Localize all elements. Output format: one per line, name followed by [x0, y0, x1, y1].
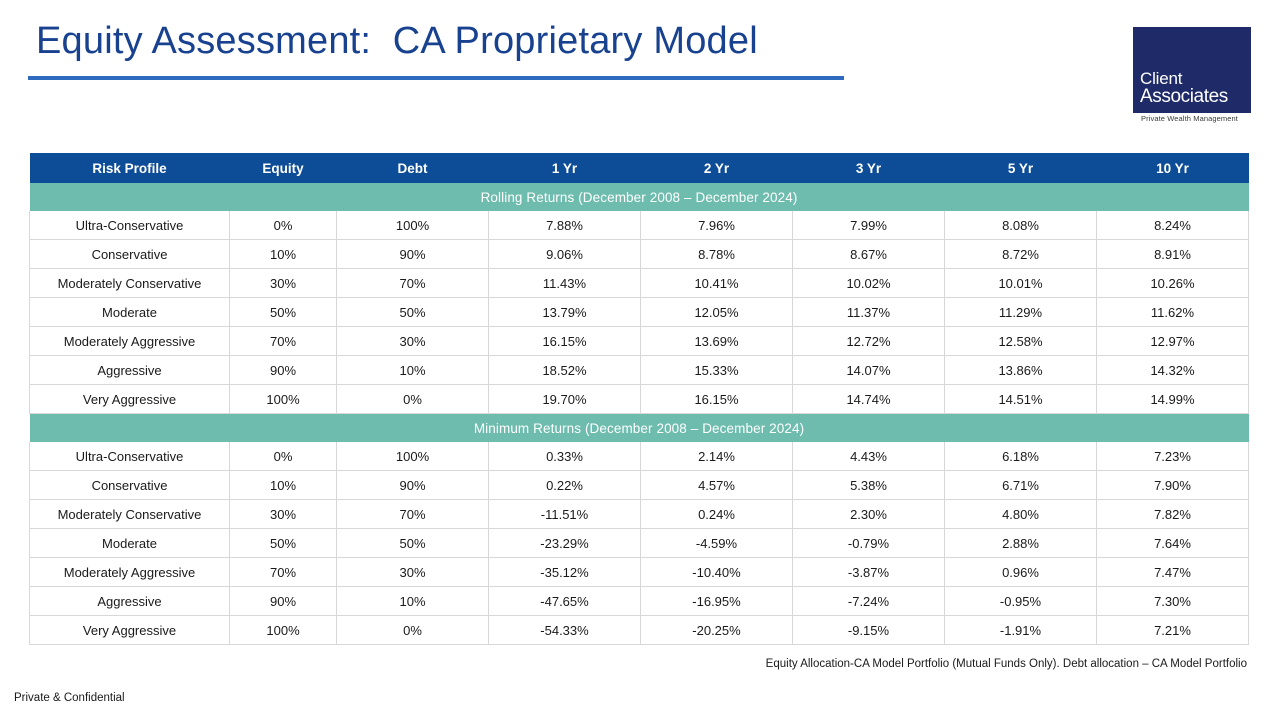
value-cell: 2.14% [641, 442, 793, 471]
value-cell: -1.91% [945, 616, 1097, 645]
value-cell: 14.51% [945, 385, 1097, 414]
logo-line-associates: Associates [1140, 86, 1228, 107]
table-row: Moderate50%50%-23.29%-4.59%-0.79%2.88%7.… [30, 529, 1249, 558]
value-cell: 12.05% [641, 298, 793, 327]
footnote-text: Equity Allocation-CA Model Portfolio (Mu… [766, 658, 1247, 670]
value-cell: 10.26% [1097, 269, 1249, 298]
value-cell: 8.24% [1097, 211, 1249, 240]
risk-profile-cell: Ultra-Conservative [30, 211, 230, 240]
value-cell: 10% [230, 471, 337, 500]
table-row: Moderately Aggressive70%30%-35.12%-10.40… [30, 558, 1249, 587]
value-cell: 12.58% [945, 327, 1097, 356]
value-cell: -0.79% [793, 529, 945, 558]
value-cell: -35.12% [489, 558, 641, 587]
value-cell: 7.99% [793, 211, 945, 240]
value-cell: 16.15% [489, 327, 641, 356]
risk-profile-cell: Very Aggressive [30, 616, 230, 645]
table-row: Moderately Aggressive70%30%16.15%13.69%1… [30, 327, 1249, 356]
value-cell: -9.15% [793, 616, 945, 645]
value-cell: 2.88% [945, 529, 1097, 558]
section-header-row: Minimum Returns (December 2008 – Decembe… [30, 414, 1249, 443]
value-cell: 0% [230, 211, 337, 240]
value-cell: 11.29% [945, 298, 1097, 327]
title-underline [28, 76, 844, 80]
value-cell: 70% [230, 327, 337, 356]
value-cell: 6.71% [945, 471, 1097, 500]
value-cell: 0.96% [945, 558, 1097, 587]
table-row: Moderate50%50%13.79%12.05%11.37%11.29%11… [30, 298, 1249, 327]
column-header-2-yr[interactable]: 2 Yr [641, 153, 793, 183]
value-cell: 13.69% [641, 327, 793, 356]
value-cell: 10% [230, 240, 337, 269]
value-cell: 30% [230, 500, 337, 529]
value-cell: 14.74% [793, 385, 945, 414]
value-cell: 100% [230, 385, 337, 414]
value-cell: 11.62% [1097, 298, 1249, 327]
value-cell: 70% [337, 269, 489, 298]
column-header-equity[interactable]: Equity [230, 153, 337, 183]
value-cell: 8.08% [945, 211, 1097, 240]
column-header-risk-profile[interactable]: Risk Profile [30, 153, 230, 183]
value-cell: 6.18% [945, 442, 1097, 471]
value-cell: 50% [230, 298, 337, 327]
value-cell: 7.96% [641, 211, 793, 240]
section-header-row: Rolling Returns (December 2008 – Decembe… [30, 183, 1249, 211]
company-logo: Client Associates Private Wealth Managem… [1133, 27, 1251, 125]
column-header-1-yr[interactable]: 1 Yr [489, 153, 641, 183]
value-cell: 4.43% [793, 442, 945, 471]
value-cell: 90% [230, 356, 337, 385]
value-cell: 8.72% [945, 240, 1097, 269]
value-cell: 100% [337, 442, 489, 471]
column-header-debt[interactable]: Debt [337, 153, 489, 183]
table-row: Very Aggressive100%0%19.70%16.15%14.74%1… [30, 385, 1249, 414]
value-cell: 7.64% [1097, 529, 1249, 558]
value-cell: 16.15% [641, 385, 793, 414]
value-cell: 14.99% [1097, 385, 1249, 414]
value-cell: 8.91% [1097, 240, 1249, 269]
column-header-5-yr[interactable]: 5 Yr [945, 153, 1097, 183]
value-cell: 90% [230, 587, 337, 616]
value-cell: 10.01% [945, 269, 1097, 298]
value-cell: 18.52% [489, 356, 641, 385]
value-cell: 100% [337, 211, 489, 240]
risk-profile-cell: Moderately Aggressive [30, 327, 230, 356]
value-cell: 10.41% [641, 269, 793, 298]
value-cell: -10.40% [641, 558, 793, 587]
value-cell: 4.57% [641, 471, 793, 500]
table-row: Moderately Conservative30%70%-11.51%0.24… [30, 500, 1249, 529]
table-header-row: Risk ProfileEquityDebt1 Yr2 Yr3 Yr5 Yr10… [30, 153, 1249, 183]
value-cell: -7.24% [793, 587, 945, 616]
table-body: Rolling Returns (December 2008 – Decembe… [30, 183, 1249, 645]
value-cell: 30% [337, 327, 489, 356]
value-cell: 19.70% [489, 385, 641, 414]
risk-profile-cell: Ultra-Conservative [30, 442, 230, 471]
value-cell: -47.65% [489, 587, 641, 616]
value-cell: 14.32% [1097, 356, 1249, 385]
value-cell: 0% [230, 442, 337, 471]
value-cell: 12.72% [793, 327, 945, 356]
section-title: Minimum Returns (December 2008 – Decembe… [30, 414, 1249, 443]
table-row: Conservative10%90%9.06%8.78%8.67%8.72%8.… [30, 240, 1249, 269]
value-cell: 10% [337, 587, 489, 616]
risk-profile-cell: Conservative [30, 471, 230, 500]
value-cell: 13.86% [945, 356, 1097, 385]
value-cell: 15.33% [641, 356, 793, 385]
value-cell: -0.95% [945, 587, 1097, 616]
column-header-3-yr[interactable]: 3 Yr [793, 153, 945, 183]
value-cell: -23.29% [489, 529, 641, 558]
table-row: Aggressive90%10%18.52%15.33%14.07%13.86%… [30, 356, 1249, 385]
value-cell: 11.43% [489, 269, 641, 298]
value-cell: 5.38% [793, 471, 945, 500]
value-cell: 50% [230, 529, 337, 558]
risk-profile-cell: Moderately Conservative [30, 269, 230, 298]
risk-profile-cell: Aggressive [30, 587, 230, 616]
value-cell: 7.23% [1097, 442, 1249, 471]
value-cell: 7.82% [1097, 500, 1249, 529]
value-cell: 13.79% [489, 298, 641, 327]
value-cell: 0.24% [641, 500, 793, 529]
value-cell: 12.97% [1097, 327, 1249, 356]
column-header-10-yr[interactable]: 10 Yr [1097, 153, 1249, 183]
risk-profile-cell: Moderately Conservative [30, 500, 230, 529]
table-row: Aggressive90%10%-47.65%-16.95%-7.24%-0.9… [30, 587, 1249, 616]
value-cell: 14.07% [793, 356, 945, 385]
value-cell: 0.22% [489, 471, 641, 500]
page-title: Equity Assessment: CA Proprietary Model [36, 20, 758, 63]
value-cell: 90% [337, 471, 489, 500]
table-header: Risk ProfileEquityDebt1 Yr2 Yr3 Yr5 Yr10… [30, 153, 1249, 183]
value-cell: -11.51% [489, 500, 641, 529]
risk-profile-cell: Moderate [30, 298, 230, 327]
value-cell: 10% [337, 356, 489, 385]
table-row: Ultra-Conservative0%100%7.88%7.96%7.99%8… [30, 211, 1249, 240]
table-row: Moderately Conservative30%70%11.43%10.41… [30, 269, 1249, 298]
value-cell: -20.25% [641, 616, 793, 645]
value-cell: 50% [337, 529, 489, 558]
value-cell: 0.33% [489, 442, 641, 471]
value-cell: 0% [337, 616, 489, 645]
value-cell: 7.30% [1097, 587, 1249, 616]
value-cell: 30% [230, 269, 337, 298]
confidential-label: Private & Confidential [14, 692, 125, 704]
logo-box: Client Associates [1133, 27, 1251, 113]
table-row: Very Aggressive100%0%-54.33%-20.25%-9.15… [30, 616, 1249, 645]
risk-profile-cell: Moderately Aggressive [30, 558, 230, 587]
value-cell: 90% [337, 240, 489, 269]
value-cell: 9.06% [489, 240, 641, 269]
value-cell: 70% [337, 500, 489, 529]
value-cell: -4.59% [641, 529, 793, 558]
value-cell: 7.47% [1097, 558, 1249, 587]
risk-profile-cell: Very Aggressive [30, 385, 230, 414]
value-cell: -3.87% [793, 558, 945, 587]
value-cell: 30% [337, 558, 489, 587]
returns-table: Risk ProfileEquityDebt1 Yr2 Yr3 Yr5 Yr10… [29, 153, 1249, 645]
value-cell: 11.37% [793, 298, 945, 327]
table-row: Ultra-Conservative0%100%0.33%2.14%4.43%6… [30, 442, 1249, 471]
value-cell: 7.90% [1097, 471, 1249, 500]
value-cell: 70% [230, 558, 337, 587]
value-cell: 0% [337, 385, 489, 414]
risk-profile-cell: Conservative [30, 240, 230, 269]
value-cell: 4.80% [945, 500, 1097, 529]
value-cell: 100% [230, 616, 337, 645]
value-cell: 8.67% [793, 240, 945, 269]
logo-tagline: Private Wealth Management [1141, 114, 1238, 123]
value-cell: -54.33% [489, 616, 641, 645]
value-cell: 7.21% [1097, 616, 1249, 645]
value-cell: 2.30% [793, 500, 945, 529]
value-cell: -16.95% [641, 587, 793, 616]
value-cell: 50% [337, 298, 489, 327]
value-cell: 7.88% [489, 211, 641, 240]
value-cell: 10.02% [793, 269, 945, 298]
value-cell: 8.78% [641, 240, 793, 269]
section-title: Rolling Returns (December 2008 – Decembe… [30, 183, 1249, 211]
risk-profile-cell: Moderate [30, 529, 230, 558]
risk-profile-cell: Aggressive [30, 356, 230, 385]
table-row: Conservative10%90%0.22%4.57%5.38%6.71%7.… [30, 471, 1249, 500]
